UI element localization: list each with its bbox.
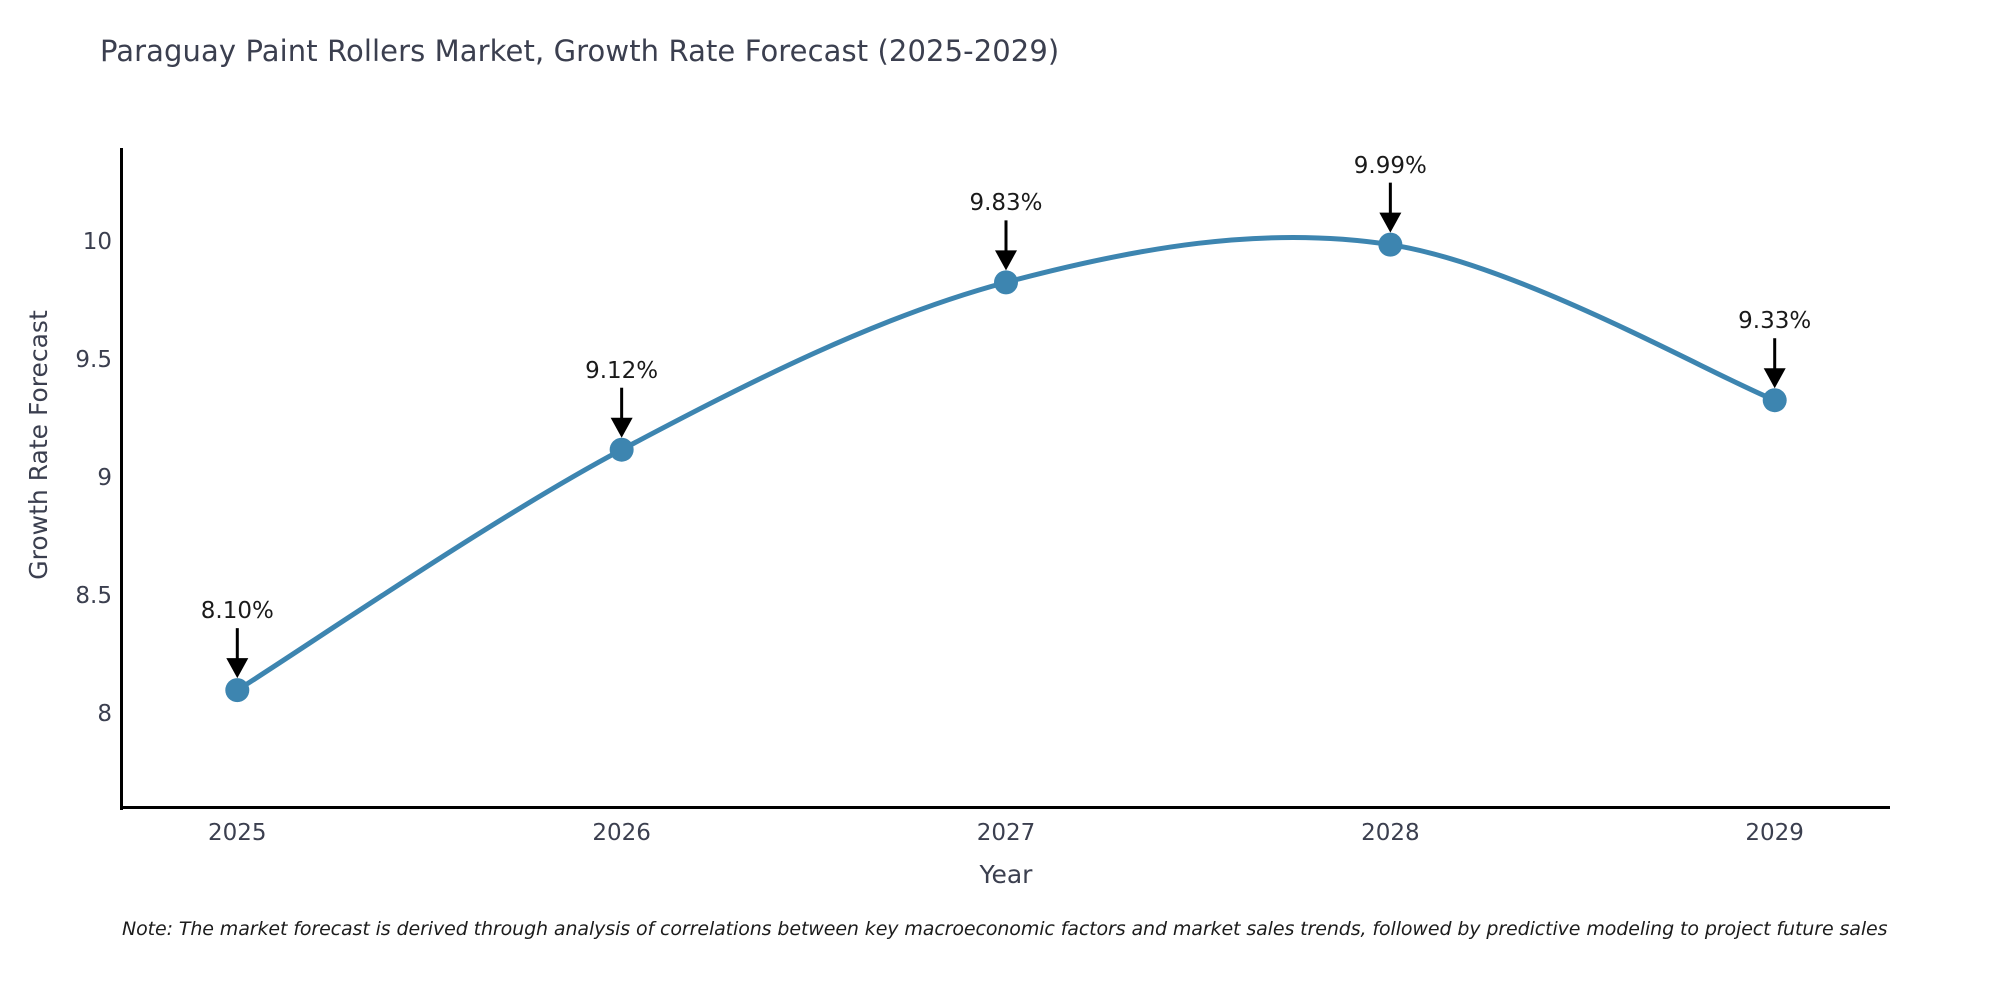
data-point-label: 9.12%	[512, 358, 732, 384]
chart-page: Paraguay Paint Rollers Market, Growth Ra…	[0, 0, 2000, 1000]
line-chart-svg	[122, 148, 1890, 808]
data-point-marker[interactable]	[1763, 388, 1787, 412]
data-point-label: 9.33%	[1665, 308, 1885, 334]
x-axis-tick-label: 2025	[157, 820, 317, 846]
series-line-growth-rate-forecast	[237, 237, 1774, 690]
y-axis-tick-label: 8.5	[32, 583, 112, 609]
data-point-label: 8.10%	[127, 598, 347, 624]
annotation-arrow-head	[226, 658, 248, 678]
page-title: Paraguay Paint Rollers Market, Growth Ra…	[100, 34, 1059, 68]
x-axis-title: Year	[122, 860, 1890, 889]
data-point-marker[interactable]	[610, 438, 634, 462]
data-point-label: 9.99%	[1280, 153, 1500, 179]
annotation-arrow-head	[611, 418, 633, 438]
y-axis-tick-label: 10	[32, 229, 112, 255]
plot-area	[122, 148, 1890, 808]
annotation-arrow-head	[1764, 368, 1786, 388]
y-axis-tick-label: 8	[32, 701, 112, 727]
y-axis-tick-label: 9	[32, 465, 112, 491]
annotation-arrow-head	[1379, 213, 1401, 233]
y-axis-tick-labels: 88.599.510	[20, 0, 112, 1000]
data-point-marker[interactable]	[225, 678, 249, 702]
annotation-arrows	[226, 183, 1785, 679]
series-markers	[225, 233, 1786, 703]
x-axis-tick-label: 2028	[1310, 820, 1470, 846]
footnote-note: Note: The market forecast is derived thr…	[122, 918, 1887, 940]
data-point-marker[interactable]	[994, 270, 1018, 294]
x-axis-tick-label: 2029	[1695, 820, 1855, 846]
y-axis-tick-label: 9.5	[32, 347, 112, 373]
annotation-arrow-head	[995, 250, 1017, 270]
x-axis-tick-label: 2026	[542, 820, 702, 846]
x-axis-tick-label: 2027	[926, 820, 1086, 846]
data-point-marker[interactable]	[1378, 233, 1402, 257]
data-point-label: 9.83%	[896, 190, 1116, 216]
